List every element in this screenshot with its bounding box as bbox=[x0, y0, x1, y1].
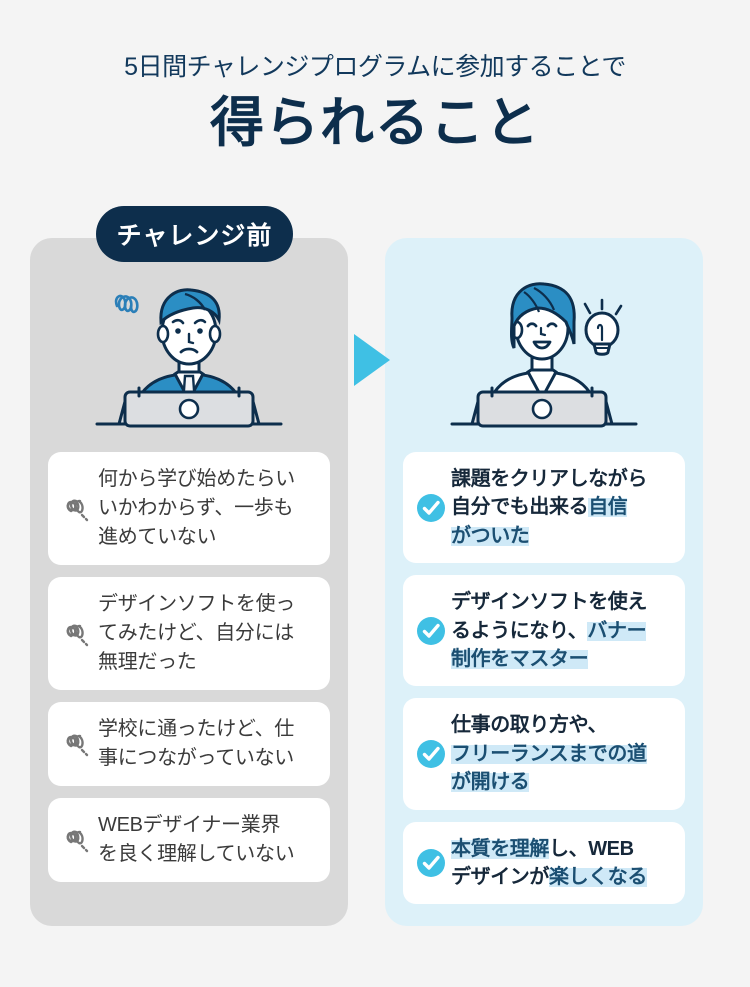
after-card-text: 本質を理解し、WEBデザインが楽しくなる bbox=[451, 835, 647, 892]
after-card: 課題をクリアしながら自分でも出来る自信がついた bbox=[403, 452, 685, 563]
before-card: WEBデザイナー業界を良く理解していない bbox=[48, 798, 330, 882]
before-card-text: WEBデザイナー業界を良く理解していない bbox=[98, 811, 294, 869]
highlighted-text: 本質を理解 bbox=[451, 838, 549, 860]
before-card: 何から学び始めたらいいかわからず、一歩も進めていない bbox=[48, 452, 330, 565]
text-line: 事につながっていない bbox=[98, 747, 294, 769]
highlighted-text: フリーランスまでの道 bbox=[451, 743, 647, 765]
after-card-text: 仕事の取り方や、フリーランスまでの道が開ける bbox=[451, 711, 647, 796]
text-line: WEBデザイナー業界 bbox=[98, 814, 280, 836]
triangle-right-icon bbox=[354, 334, 390, 386]
highlighted-text: が開ける bbox=[451, 771, 529, 793]
panel-before: チャレンジ前 bbox=[30, 238, 348, 926]
text-line: 進めていない bbox=[98, 526, 216, 548]
text-segment: 仕事の取り方や、 bbox=[451, 714, 607, 736]
scribble-icon bbox=[58, 494, 98, 524]
highlighted-text: がついた bbox=[451, 525, 529, 547]
scribble-icon bbox=[58, 729, 98, 759]
before-card: 学校に通ったけど、仕事につながっていない bbox=[48, 702, 330, 786]
comparison-columns: チャレンジ前 bbox=[0, 238, 750, 926]
text-line: いかわからず、一歩も bbox=[98, 497, 293, 519]
text-segment: 自分でも出来る bbox=[451, 496, 588, 518]
heading-title: 得られること bbox=[0, 90, 750, 158]
highlighted-text: 自信 bbox=[588, 496, 627, 518]
check-circle-icon bbox=[411, 616, 451, 646]
before-card-text: 何から学び始めたらいいかわからず、一歩も進めていない bbox=[98, 465, 295, 552]
heading-subtitle: 5日間チャレンジプログラムに参加することで bbox=[0, 52, 750, 82]
text-segment: デザインソフトを使え bbox=[451, 591, 647, 613]
badge-before: チャレンジ前 bbox=[96, 206, 293, 262]
text-segment: るようになり、 bbox=[451, 620, 587, 642]
after-card-text: 課題をクリアしながら自分でも出来る自信がついた bbox=[451, 465, 647, 550]
text-line: 無理だった bbox=[98, 651, 197, 673]
highlighted-text: 制作をマスター bbox=[451, 648, 588, 670]
after-item-list: 課題をクリアしながら自分でも出来る自信がついたデザインソフトを使えるようになり、… bbox=[385, 452, 703, 916]
before-item-list: 何から学び始めたらいいかわからず、一歩も進めていないデザインソフトを使ってみたけ… bbox=[30, 452, 348, 894]
after-card: デザインソフトを使えるようになり、バナー制作をマスター bbox=[403, 575, 685, 686]
text-line: 何から学び始めたらい bbox=[98, 468, 295, 490]
scribble-icon bbox=[58, 825, 98, 855]
text-line: デザインソフトを使っ bbox=[98, 593, 295, 615]
before-card-text: 学校に通ったけど、仕事につながっていない bbox=[98, 715, 294, 773]
scribble-icon bbox=[58, 619, 98, 649]
illustration-before bbox=[30, 266, 348, 436]
after-card: 本質を理解し、WEBデザインが楽しくなる bbox=[403, 822, 685, 905]
check-circle-icon bbox=[411, 848, 451, 878]
text-line: 学校に通ったけど、仕 bbox=[98, 718, 294, 740]
text-line: てみたけど、自分には bbox=[98, 622, 294, 644]
check-circle-icon bbox=[411, 493, 451, 523]
check-circle-icon bbox=[411, 739, 451, 769]
highlighted-text: バナー bbox=[587, 620, 646, 642]
text-line: を良く理解していない bbox=[98, 843, 294, 865]
text-segment: デザインが bbox=[451, 866, 549, 888]
text-segment: し、WEB bbox=[549, 838, 634, 860]
after-card-text: デザインソフトを使えるようになり、バナー制作をマスター bbox=[451, 588, 647, 673]
after-card: 仕事の取り方や、フリーランスまでの道が開ける bbox=[403, 698, 685, 809]
highlighted-text: 楽しくなる bbox=[549, 866, 647, 888]
page-heading: 5日間チャレンジプログラムに参加することで 得られること bbox=[0, 0, 750, 158]
before-card-text: デザインソフトを使ってみたけど、自分には無理だった bbox=[98, 590, 295, 677]
panel-after: チャレンジ後 bbox=[385, 238, 703, 926]
text-segment: 課題をクリアしながら bbox=[451, 468, 647, 490]
illustration-after bbox=[385, 266, 703, 436]
before-card: デザインソフトを使ってみたけど、自分には無理だった bbox=[48, 577, 330, 690]
